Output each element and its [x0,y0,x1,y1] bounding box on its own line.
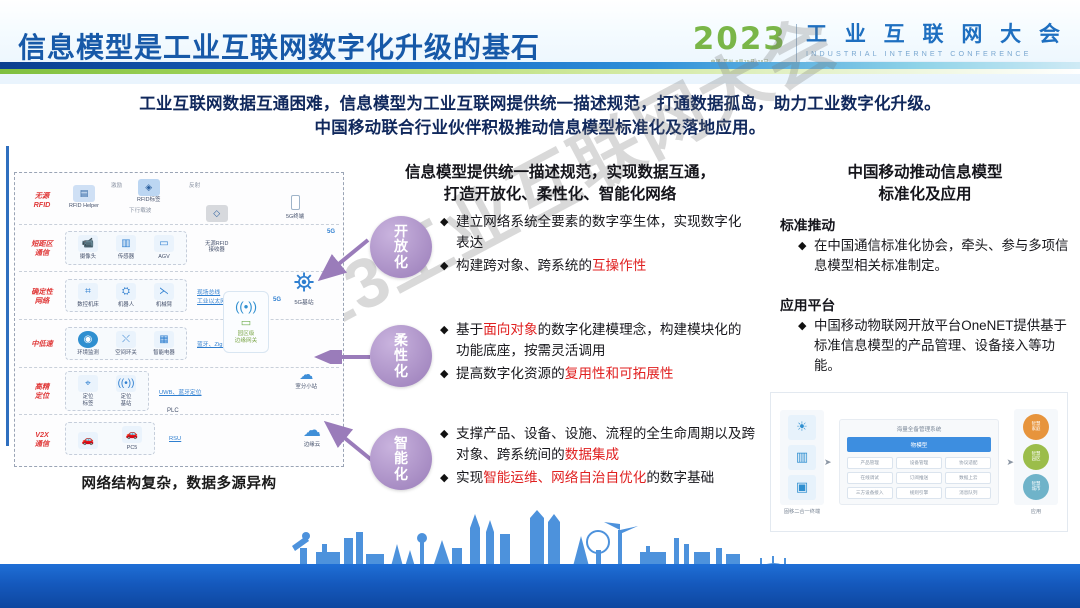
device-label: 智能电器 [147,350,181,356]
receiver-icon: ◇ [206,205,228,222]
diamond-bullet-icon: ◆ [440,212,456,233]
rfid-edge-label-excite: 激励 [111,181,122,189]
device-sensor: ▥ 传感器 [109,235,143,260]
device-label: 定位 基站 [109,394,143,407]
link-ethernet: 工业以太网 [197,296,226,305]
arrow-right-icon: ➤ [824,457,832,468]
bottom-banner [0,564,1080,608]
summary-text: 工业互联网数据互通困难，信息模型为工业互联网提供统一描述规范，打通数据孤岛，助力… [20,92,1060,140]
diamond-bullet-icon: ◆ [440,320,456,341]
node-label: 无源RFID 接收器 [205,241,228,253]
onenet-application-label: 应用 [1031,508,1041,515]
bullet-text: 中国移动物联网开放平台OneNET提供基于标准信息模型的产品管理、设备接入等功能… [814,316,1076,376]
node-label: 室分小站 [295,382,317,390]
camera-icon: 📹 [78,235,98,252]
bullet-text: 支撑产品、设备、设施、流程的全生命周期以及跨对象、跨系统间的数据集成 [456,424,760,465]
diamond-bullet-icon: ◆ [440,468,456,489]
diamond-bullet-icon: ◆ [798,316,814,337]
rfid-helper-node: ▤ RFID Helper [69,185,99,209]
car-icon: 🚗 [78,432,98,449]
page-title: 信息模型是工业互联网数字化升级的基石 [18,26,540,66]
onenet-platform-screenshot: ☀ ▥ ▣ 固移二合一终端 ➤ 海量全备管理系统 物模型 产品管理 设备管理 协… [770,392,1068,532]
edge-gateway-node: ((•)) ▭ 园区级 边缘网关 [223,291,269,353]
bullet-item: ◆ 实现智能运维、网络自治自优化的数字基础 [440,468,760,489]
middle-title-line-1: 信息模型提供统一描述规范，实现数据互通， [358,162,762,184]
network-architecture-diagram: 无源 RFID ▤ RFID Helper ◈ RFID标签 ◇ 无源RFID … [14,172,344,467]
onenet-cell[interactable]: 订阅推送 [896,472,942,484]
bullet-item: ◆ 中国移动物联网开放平台OneNET提供基于标准信息模型的产品管理、设备接入等… [798,316,1076,376]
node-label: 边缘云 [303,440,321,448]
bullet-item: ◆ 在中国通信标准化协会，牵头、参与多项信息模型相关标准制定。 [798,236,1076,276]
device-label: 空间环关 [109,350,143,356]
sensor-icon: ▥ [116,235,136,252]
device-label: 数控机床 [71,302,105,308]
bullets-intelligence: ◆ 支撑产品、设备、设施、流程的全生命周期以及跨对象、跨系统间的数据集成 ◆ 实… [440,424,760,492]
bubble-flexibility[interactable]: 柔性化 [370,325,432,387]
onenet-terminal-column: ☀ ▥ ▣ [780,410,824,505]
diamond-bullet-icon: ◆ [440,424,456,445]
tag-5g-1: 5G [327,229,335,235]
device-vehicle-a: 🚗 [71,432,105,451]
logo-conference-cn: 工 业 互 联 网 大 会 [806,24,1066,46]
server-icon: ▤ [73,185,95,202]
onenet-model-banner: 物模型 [847,437,992,452]
rfid-edge-label-reflect: 反射 [189,181,200,189]
tag-icon: ◈ [138,179,160,196]
logo-year: 2023 [693,24,787,55]
node-plc-label: PLC [167,408,179,414]
diagram-category-label: V2X 通信 [19,430,65,448]
device-group-shortrange: 📹 摄像头 ▥ 传感器 ▭ AGV [65,231,187,264]
device-agv: ▭ AGV [147,235,181,260]
gateway-icon: ⤬ [116,331,136,348]
bullet-text: 构建跨对象、跨系统的互操作性 [456,256,646,277]
bubble-openness-label: 开放化 [391,224,411,271]
onenet-cell[interactable]: 协议适配 [945,457,991,469]
onenet-cell[interactable]: 规则引擎 [896,487,942,499]
onenet-center-panel: 海量全备管理系统 物模型 产品管理 设备管理 协议适配 在线调试 订阅推送 数据… [839,419,1000,505]
node-rsu-label: RSU [169,436,181,442]
device-label: 机器人 [109,302,143,308]
node-label: 园区级 边缘网关 [235,331,257,344]
onenet-cell[interactable]: 设备管理 [896,457,942,469]
logo-conference-en: INDUSTRIAL INTERNET CONFERENCE [806,49,1066,58]
rfid-tag-node: ◈ RFID标签 [137,179,160,203]
logo-year-block: 2023 中国·苏州 8月25日-28日 [693,24,796,65]
device-group-positioning: ⌖ 定位 标签 ((•)) 定位 基站 [65,371,149,411]
device-gateway-small: ⤬ 空间环关 [109,331,143,356]
pin-icon: ⌖ [78,375,98,392]
device-label: 定位 标签 [71,394,105,407]
onenet-application-column: 智慧 家庭 智慧 园区 智慧 城市 [1014,409,1058,505]
bullet-item: ◆ 提高数字化资源的复用性和可拓展性 [440,364,755,385]
arm-icon: ⋋ [154,283,174,300]
bullet-text: 建立网络系统全要素的数字孪生体，实现数字化表达 [456,212,755,253]
onenet-cell[interactable]: 消息队列 [945,487,991,499]
device-label: 机械臂 [147,302,181,308]
monitor-icon: ◉ [78,331,98,348]
onenet-cell[interactable]: 数据上云 [945,472,991,484]
bullet-item: ◆ 建立网络系统全要素的数字孪生体，实现数字化表达 [440,212,755,253]
indoor-cell-node: ☁ 室分小站 [295,367,317,390]
bubble-intelligence[interactable]: 智能化 [370,428,432,490]
diagram-category-label: 确定性 网络 [19,287,65,305]
gateway-icon: ▭ [241,316,251,329]
diamond-bullet-icon: ◆ [440,256,456,277]
app-circle-city: 智慧 城市 [1023,474,1049,500]
bullet-item: ◆ 构建跨对象、跨系统的互操作性 [440,256,755,277]
terminal-5g-node: 5G终端 [275,195,315,220]
diagram-category-label: 短距区 通信 [19,239,65,257]
right-bullets-platform: ◆ 中国移动物联网开放平台OneNET提供基于标准信息模型的产品管理、设备接入等… [798,316,1076,379]
left-accent-rule [6,146,9,446]
header-rule-blue [0,62,1080,69]
diagram-row-lowspeed: 中低速 ◉ 环境监测 ⤬ 空间环关 ▦ 智能电器 [19,320,339,368]
wifi-icon: ((•)) [235,299,257,314]
edge-cloud-node: ☁ 边缘云 [303,421,321,448]
panel-icon: ▣ [788,475,816,500]
onenet-terminal-label: 固移二合一终端 [784,508,820,515]
onenet-feature-grid: 产品管理 设备管理 协议适配 在线调试 订阅推送 数据上云 三方设备接入 规则引… [847,457,992,499]
cloud-node-icon: ☁ [295,367,317,381]
bubble-openness[interactable]: 开放化 [370,216,432,278]
cnc-icon: ⌗ [78,283,98,300]
bullet-text: 实现智能运维、网络自治自优化的数字基础 [456,468,714,489]
device-cnc: ⌗ 数控机床 [71,283,105,308]
onenet-center-title: 海量全备管理系统 [847,425,992,433]
diagram-row-positioning: 高精 定位 ⌖ 定位 标签 ((•)) 定位 基站 UWB、蓝牙定位 [19,368,339,416]
bubble-flexibility-label: 柔性化 [391,333,411,380]
device-label: PC5 [115,445,149,451]
antenna-icon: ((•)) [116,375,136,392]
diagram-category-label: 高精 定位 [19,382,65,400]
rfid-subnet: ▤ RFID Helper ◈ RFID标签 ◇ 无源RFID 接收器 激励 反… [65,179,339,222]
device-camera: 📹 摄像头 [71,235,105,260]
app-circle-park: 智慧 园区 [1023,444,1049,470]
rfid-receiver-node: ◇ 无源RFID 接收器 [205,187,228,271]
agv-icon: ▭ [154,235,174,252]
bullet-text: 基于面向对象的数字化建模理念，构建模块化的功能底座，按需灵活调用 [456,320,755,361]
device-pos-station: ((•)) 定位 基站 [109,375,143,407]
right-column-title: 中国移动推动信息模型 标准化及应用 [780,162,1070,206]
right-heading-standards: 标准推动 [780,214,835,234]
rfid-edge-label-downlink: 下行载波 [129,206,151,214]
sun-icon: ☀ [788,415,816,440]
bullet-text: 在中国通信标准化协会，牵头、参与多项信息模型相关标准制定。 [814,236,1076,276]
onenet-cell[interactable]: 三方设备接入 [847,487,893,499]
arrow-flexibility [312,350,374,364]
header-rule-green [0,69,1080,74]
node-label: 5G终端 [275,212,315,220]
device-robot: ⛭ 机器人 [109,283,143,308]
diagram-row-v2x: V2X 通信 🚗 🚗 PC5 RSU [19,415,339,462]
device-monitor: ◉ 环境监测 [71,331,105,356]
middle-title-line-2: 打造开放化、柔性化、智能化网络 [358,184,762,206]
link-uwb-bluetooth: UWB、蓝牙定位 [159,387,202,396]
node-label: 5G基站 [281,297,327,306]
bullet-text: 提高数字化资源的复用性和可拓展性 [456,364,674,385]
link-fieldbus: 现场总线 [197,287,226,296]
bullets-openness: ◆ 建立网络系统全要素的数字孪生体，实现数字化表达 ◆ 构建跨对象、跨系统的互操… [440,212,755,280]
car-icon: 🚗 [122,426,142,443]
node-label: RFID标签 [137,197,160,203]
robot-icon: ⛭ [116,283,136,300]
phone-icon [291,195,300,210]
diagram-row-rfid: 无源 RFID ▤ RFID Helper ◈ RFID标签 ◇ 无源RFID … [19,177,339,225]
device-appliance: ▦ 智能电器 [147,331,181,356]
tag-5g-2: 5G [273,297,281,303]
device-pos-tag: ⌖ 定位 标签 [71,375,105,407]
device-label: 环境监测 [71,350,105,356]
device-label: 摄像头 [71,254,105,260]
device-arm: ⋋ 机械臂 [147,283,181,308]
cloud-icon: ☁ [303,421,321,439]
right-bullets-standards: ◆ 在中国通信标准化协会，牵头、参与多项信息模型相关标准制定。 [798,236,1076,279]
right-heading-platform: 应用平台 [780,294,835,314]
diagram-category-label: 中低速 [19,339,65,348]
bullet-item: ◆ 基于面向对象的数字化建模理念，构建模块化的功能底座，按需灵活调用 [440,320,755,361]
summary-line-1: 工业互联网数据互通困难，信息模型为工业互联网提供统一描述规范，打通数据孤岛，助力… [20,92,1060,116]
bubble-intelligence-label: 智能化 [391,436,411,483]
right-title-line-2: 标准化及应用 [780,184,1070,206]
arrow-openness [316,236,372,282]
slide-header: 信息模型是工业互联网数字化升级的基石 2023 中国·苏州 8月25日-28日 … [0,0,1080,84]
device-label: 传感器 [109,254,143,260]
onenet-cell[interactable]: 在线调试 [847,472,893,484]
onenet-cell[interactable]: 产品管理 [847,457,893,469]
diagram-category-label: 无源 RFID [19,191,65,209]
slide-root: 信息模型是工业互联网数字化升级的基石 2023 中国·苏州 8月25日-28日 … [0,0,1080,608]
device-group-v2x: 🚗 🚗 PC5 [65,422,155,455]
device-vehicle-b: 🚗 PC5 [115,426,149,451]
node-label: RFID Helper [69,203,99,209]
device-label: AGV [147,254,181,260]
meter-icon: ▥ [788,445,816,470]
diamond-bullet-icon: ◆ [798,236,814,257]
app-circle-home: 智慧 家庭 [1023,414,1049,440]
bullet-item: ◆ 支撑产品、设备、设施、流程的全生命周期以及跨对象、跨系统间的数据集成 [440,424,760,465]
arrow-right-icon: ➤ [1006,457,1014,468]
diagram-row-shortrange: 短距区 通信 📹 摄像头 ▥ 传感器 ▭ AGV [19,225,339,273]
summary-line-2: 中国移动联合行业伙伴积极推动信息模型标准化及落地应用。 [20,116,1060,140]
diamond-bullet-icon: ◆ [440,364,456,385]
right-title-line-1: 中国移动推动信息模型 [780,162,1070,184]
diagram-caption: 网络结构复杂，数据多源异构 [14,472,344,493]
middle-column-title: 信息模型提供统一描述规范，实现数据互通， 打造开放化、柔性化、智能化网络 [358,162,762,206]
device-group-lowspeed: ◉ 环境监测 ⤬ 空间环关 ▦ 智能电器 [65,327,187,360]
appliance-icon: ▦ [154,331,174,348]
device-group-industrial: ⌗ 数控机床 ⛭ 机器人 ⋋ 机械臂 [65,279,187,312]
bullets-flexibility: ◆ 基于面向对象的数字化建模理念，构建模块化的功能底座，按需灵活调用 ◆ 提高数… [440,320,755,388]
